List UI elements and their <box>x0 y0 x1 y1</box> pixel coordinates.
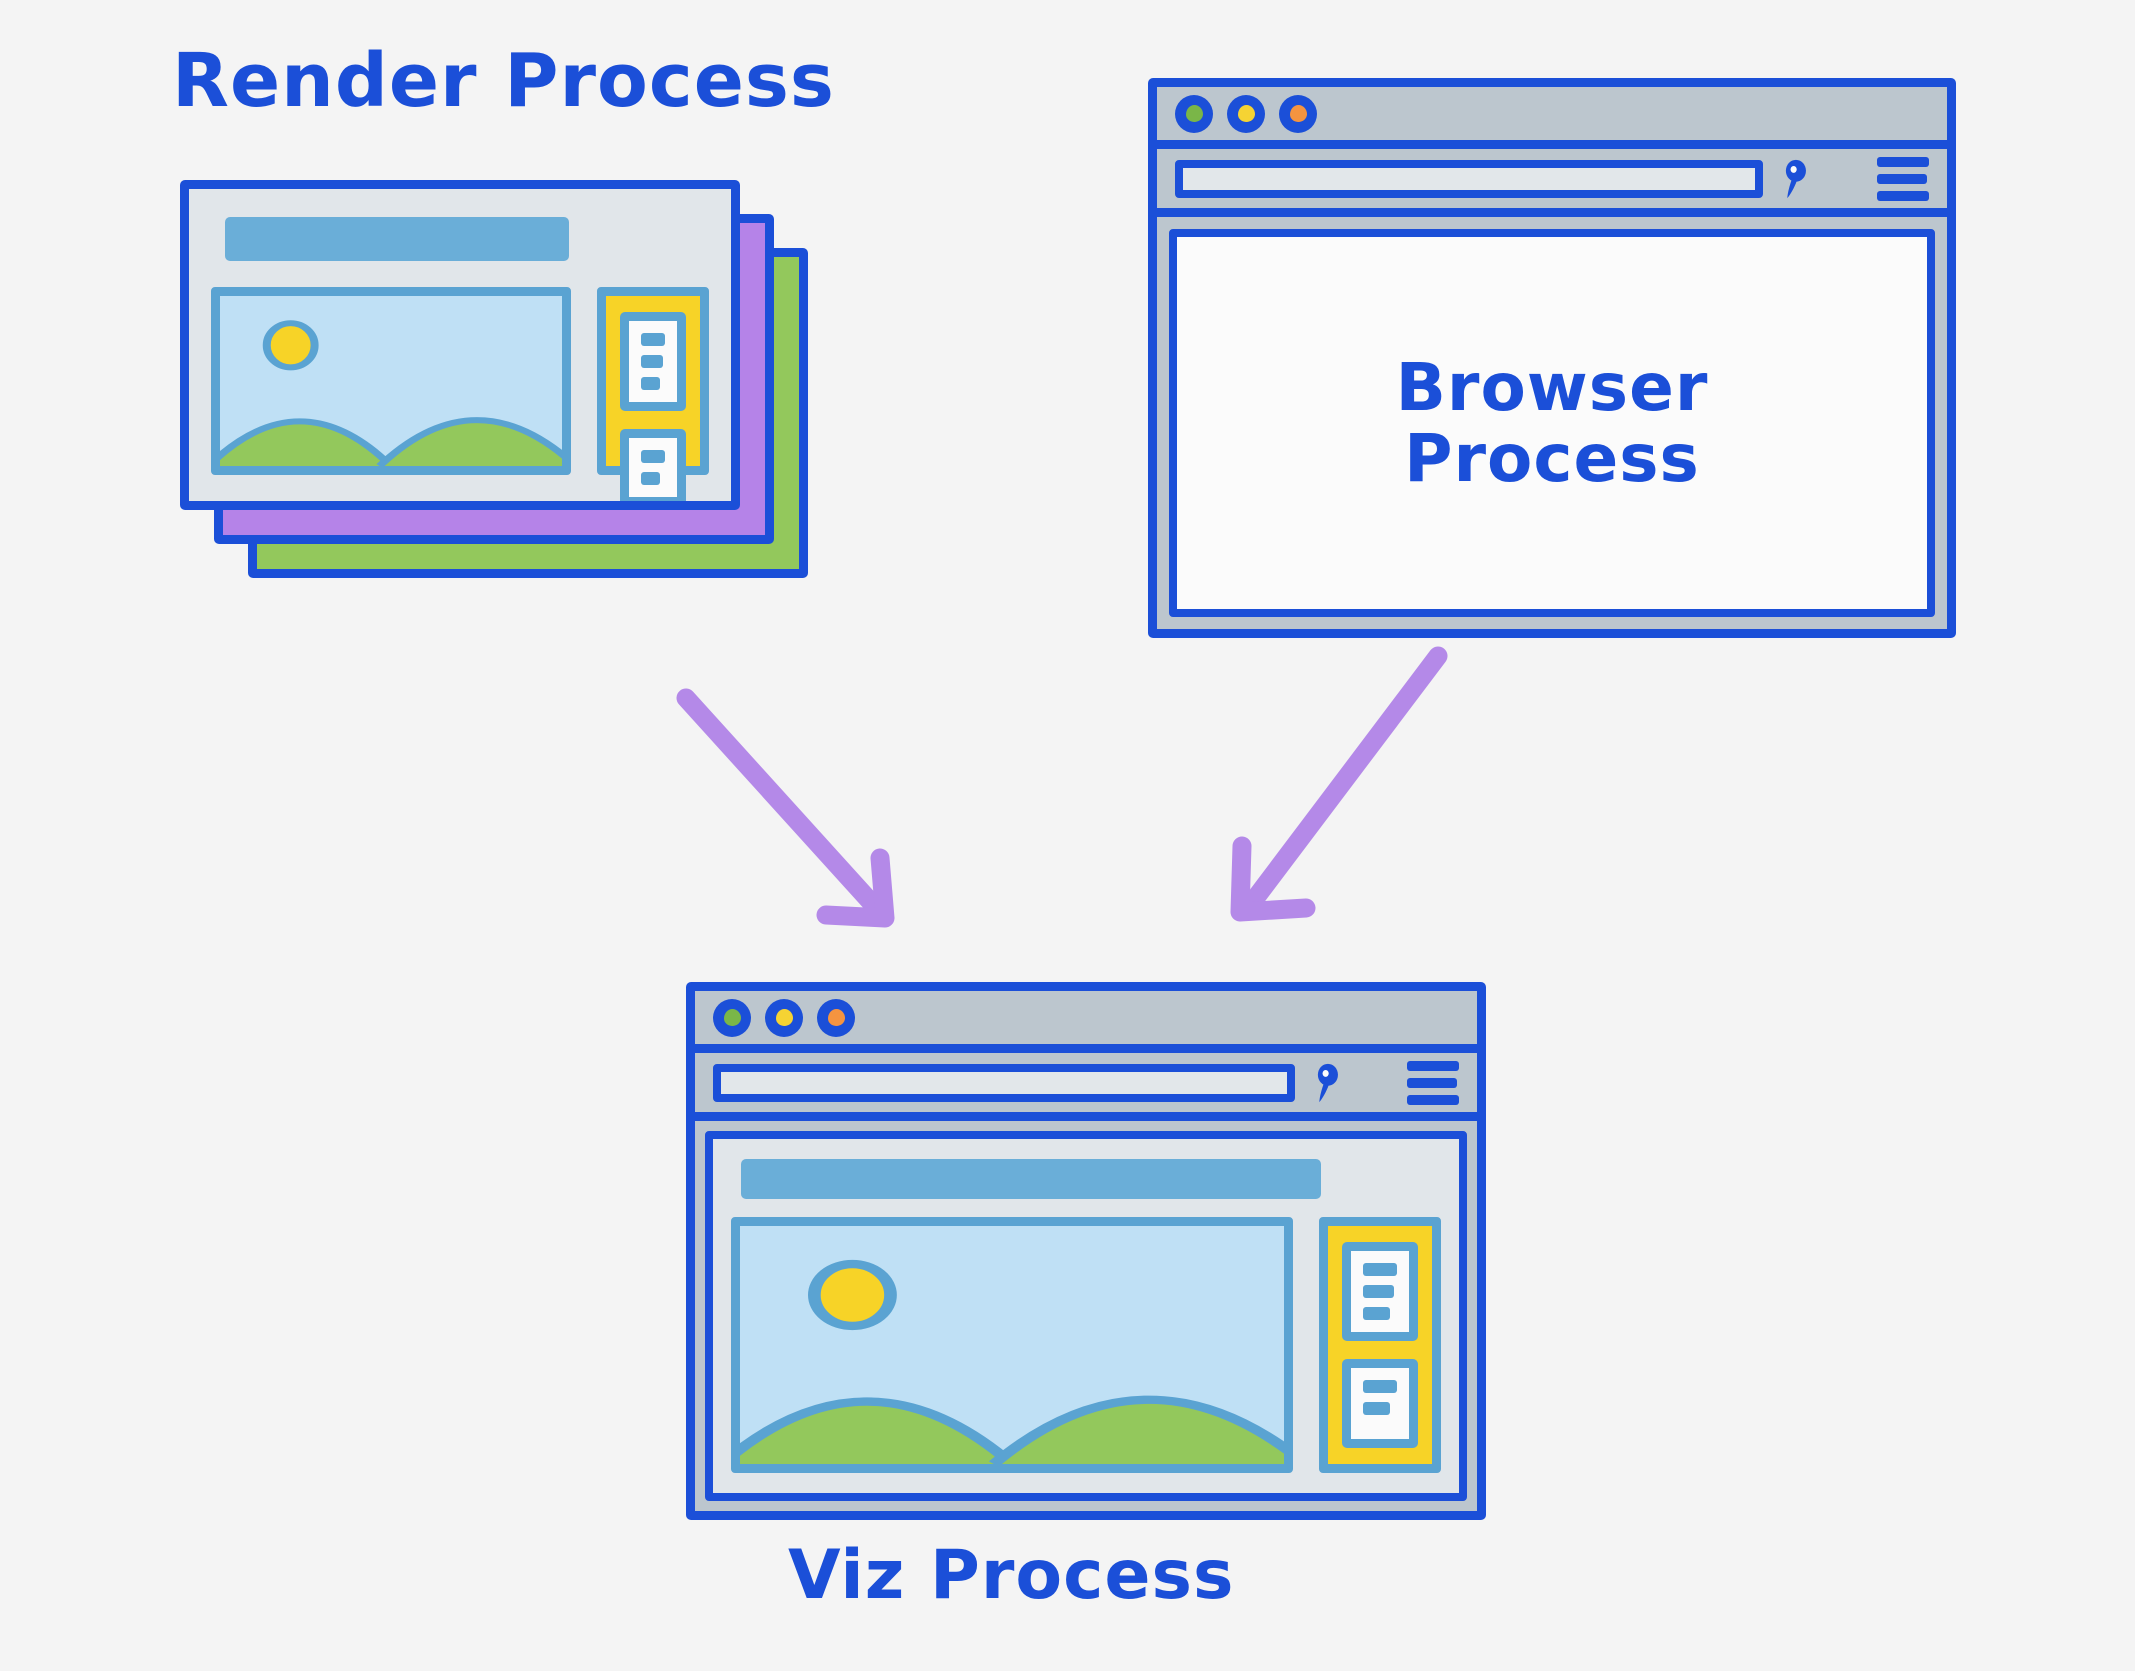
page-header-bar <box>741 1159 1321 1199</box>
rendered-page-content <box>705 1131 1467 1501</box>
hamburger-menu-icon[interactable] <box>1877 157 1929 201</box>
viz-process-window[interactable] <box>686 982 1486 1520</box>
card-text-line <box>641 472 660 485</box>
browser-titlebar <box>1157 87 1947 149</box>
browser-to-viz-arrow <box>1210 650 1500 970</box>
card-text-line <box>1363 1307 1390 1320</box>
card-text-line <box>1363 1402 1390 1415</box>
card-text-line <box>641 450 665 463</box>
search-icon[interactable] <box>1309 1062 1345 1104</box>
window-dot-orange[interactable] <box>1279 95 1317 133</box>
viz-process-label: Viz Process <box>788 1540 1234 1612</box>
card-text-line <box>1363 1285 1394 1298</box>
hero-landscape-image <box>211 287 571 475</box>
window-dot-orange[interactable] <box>817 999 855 1037</box>
page-body <box>731 1217 1441 1473</box>
sidebar-card-2[interactable] <box>1342 1359 1418 1448</box>
hamburger-menu-icon[interactable] <box>1407 1061 1459 1105</box>
browser-process-window[interactable]: Browser Process <box>1148 78 1956 638</box>
page-body <box>211 287 709 475</box>
sidebar-card-1[interactable] <box>1342 1242 1418 1341</box>
page-header-bar <box>225 217 569 261</box>
browser-process-label-line2: Process <box>1396 423 1709 494</box>
page-sidebar <box>1319 1217 1441 1473</box>
render-process-label: Render Process <box>172 42 835 120</box>
search-icon[interactable] <box>1777 158 1813 200</box>
window-dot-green[interactable] <box>1175 95 1213 133</box>
rendered-page-content <box>189 189 731 501</box>
card-text-line <box>641 377 660 390</box>
viz-window-body <box>695 1121 1477 1511</box>
card-text-line <box>1363 1263 1397 1276</box>
browser-content-pane: Browser Process <box>1169 229 1935 617</box>
render-to-viz-arrow <box>680 690 980 970</box>
viz-titlebar <box>695 991 1477 1053</box>
browser-process-label-line1: Browser <box>1396 352 1709 423</box>
page-sidebar <box>597 287 709 475</box>
render-window-front-layer[interactable] <box>180 180 740 510</box>
sidebar-card-2[interactable] <box>620 429 686 506</box>
browser-process-label: Browser Process <box>1396 352 1709 495</box>
card-text-line <box>641 355 663 368</box>
window-dot-yellow[interactable] <box>1227 95 1265 133</box>
sidebar-card-1[interactable] <box>620 312 686 411</box>
browser-window-body: Browser Process <box>1157 217 1947 629</box>
window-dot-yellow[interactable] <box>765 999 803 1037</box>
address-bar-input[interactable] <box>713 1064 1295 1102</box>
render-process-window-stack <box>180 180 740 510</box>
hero-landscape-image <box>731 1217 1293 1473</box>
card-text-line <box>641 333 665 346</box>
card-text-line <box>1363 1380 1397 1393</box>
window-dot-green[interactable] <box>713 999 751 1037</box>
address-bar-input[interactable] <box>1175 160 1763 198</box>
browser-toolbar <box>1157 149 1947 217</box>
viz-toolbar <box>695 1053 1477 1121</box>
